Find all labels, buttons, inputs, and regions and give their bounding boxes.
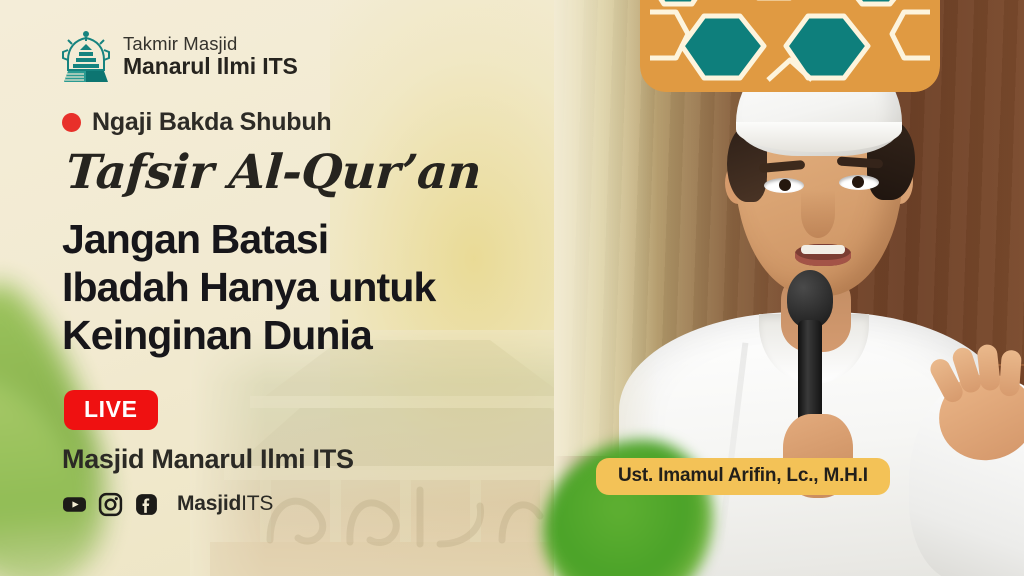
speaker-name-badge: Ust. Imamul Arifin, Lc., M.H.I: [596, 458, 890, 495]
headline-line-2: Ibadah Hanya untuk: [62, 264, 560, 312]
brand-line-1: Takmir Masjid: [123, 34, 298, 54]
facebook-icon[interactable]: [134, 492, 159, 517]
headline-line-3: Keinginan Dunia: [62, 312, 560, 360]
finger: [976, 344, 1001, 392]
instagram-icon[interactable]: [98, 492, 123, 517]
social-handle-light: ITS: [241, 492, 273, 515]
finger: [999, 350, 1022, 397]
youtube-icon[interactable]: [62, 492, 87, 517]
headline-line-1: Jangan Batasi: [62, 216, 560, 264]
speaker-pupil-right: [852, 176, 864, 188]
kicker-row: Ngaji Bakda Shubuh: [62, 108, 560, 137]
brand-text: Takmir Masjid Manarul Ilmi ITS: [123, 34, 298, 79]
poster-canvas: Takmir Masjid Manarul Ilmi ITS Ngaji Bak…: [0, 0, 1024, 576]
speaker-nose: [801, 190, 835, 238]
series-title: Tafsir Al-Qur’an: [64, 145, 562, 200]
headline: Jangan Batasi Ibadah Hanya untuk Keingin…: [62, 216, 560, 360]
speaker-teeth: [801, 245, 845, 254]
red-dot-icon: [62, 113, 81, 132]
live-badge: LIVE: [64, 390, 158, 430]
mosque-gear-logo-icon: [62, 30, 110, 82]
speaker-pupil-left: [779, 179, 791, 191]
content-column: Takmir Masjid Manarul Ilmi ITS Ngaji Bak…: [0, 0, 560, 576]
brand-line-2: Manarul Ilmi ITS: [123, 54, 298, 79]
social-row: MasjidITS: [62, 492, 560, 517]
islamic-geometric-ornament: [640, 0, 940, 92]
social-handle-bold: Masjid: [177, 492, 241, 515]
venue-label: Masjid Manarul Ilmi ITS: [62, 444, 560, 475]
social-handle: MasjidITS: [177, 492, 273, 516]
kicker-label: Ngaji Bakda Shubuh: [92, 108, 331, 137]
brand-lockup: Takmir Masjid Manarul Ilmi ITS: [62, 30, 560, 82]
